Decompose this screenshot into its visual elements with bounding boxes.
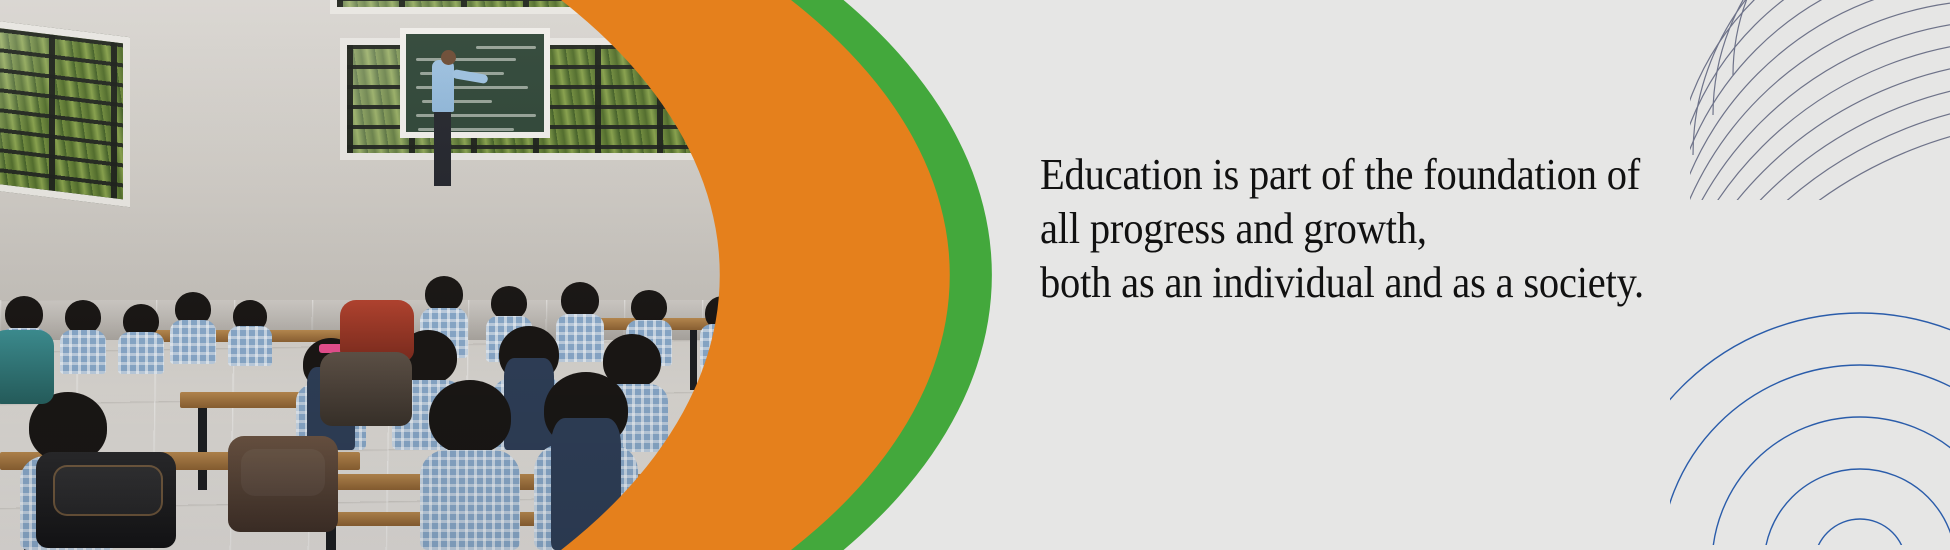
concentric-circle-group <box>1670 313 1950 545</box>
quote-text: Education is part of the foundation of a… <box>1040 148 1794 310</box>
circle-ring <box>1712 417 1950 545</box>
circle-ring <box>1670 313 1950 545</box>
quote-line-1: Education is part of the foundation of <box>1040 148 1794 202</box>
quote-line-3: both as an individual and as a society. <box>1040 256 1794 310</box>
circle-ring <box>1814 519 1906 545</box>
quote-line-2: all progress and growth, <box>1040 202 1794 256</box>
concentric-circles-ornament <box>1670 285 1950 550</box>
education-banner: Education is part of the foundation of a… <box>0 0 1950 550</box>
circle-ring <box>1764 469 1950 545</box>
circle-ring <box>1670 365 1950 545</box>
